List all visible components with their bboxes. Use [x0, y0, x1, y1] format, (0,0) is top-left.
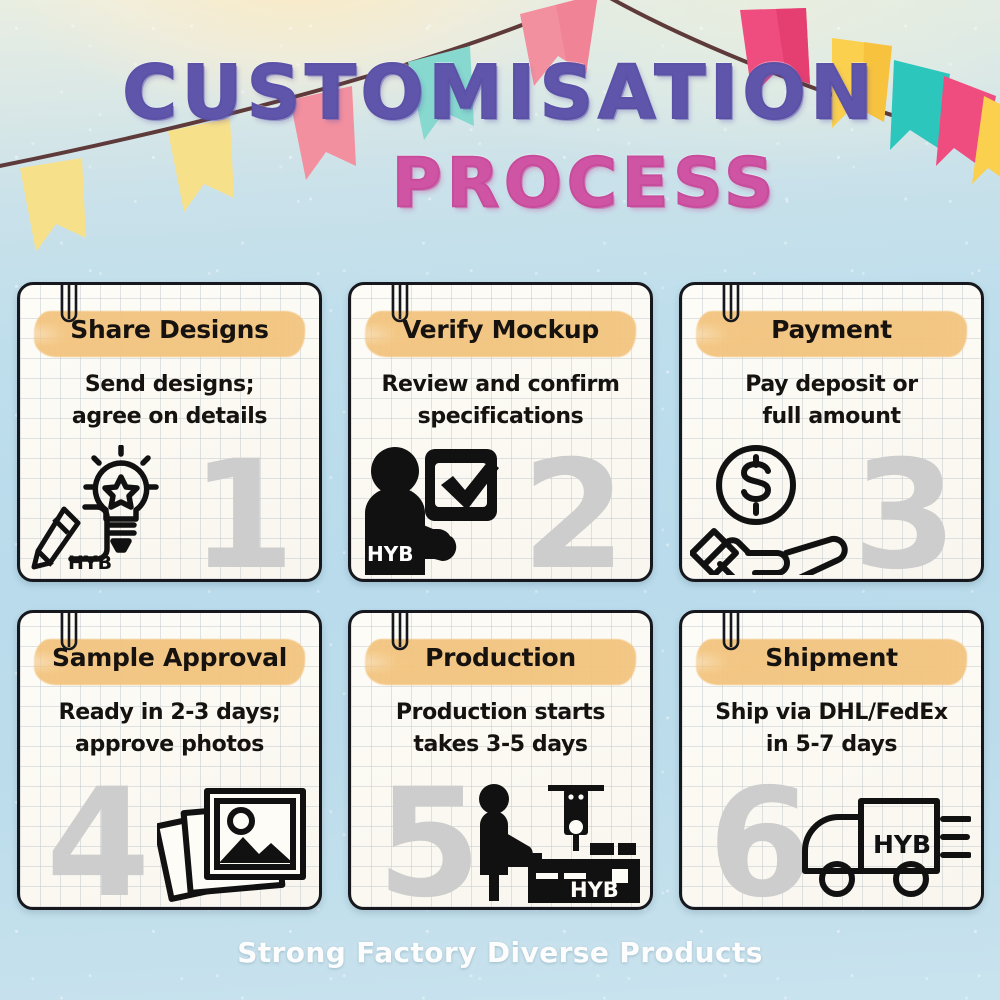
brand-mark: HYB — [367, 542, 413, 566]
step-card-1[interactable]: Share Designs Send designs;agree on deta… — [17, 282, 322, 582]
desc-line-1: Ready in 2-3 days; — [59, 700, 281, 725]
paperclip-icon — [388, 610, 412, 665]
desc-line-2: specifications — [418, 404, 584, 429]
brand-mark: HYB — [68, 552, 112, 574]
step-card-2[interactable]: Verify Mockup Review and confirmspecific… — [348, 282, 653, 582]
paperclip-icon — [719, 610, 743, 665]
title-line2-text: PROCESS — [392, 150, 778, 218]
hand-coin-icon — [690, 443, 850, 575]
step-description: Pay deposit orfull amount — [692, 369, 971, 433]
step-number: 1 — [191, 445, 295, 583]
brand-mark: HYB — [873, 830, 931, 859]
steps-grid: Share Designs Send designs;agree on deta… — [17, 282, 983, 910]
person-checkbox-icon: HYB — [359, 443, 509, 575]
desc-line-1: Pay deposit or — [745, 372, 917, 397]
worker-machine-icon: HYB — [472, 781, 640, 903]
step-card-5[interactable]: Production Production startstakes 3-5 da… — [348, 610, 653, 910]
infographic-poster: CUSTOMISATION PROCESS Share Designs Send… — [0, 0, 1000, 1000]
paperclip-icon — [388, 282, 412, 337]
poster-title-line2: PROCESS — [0, 150, 1000, 218]
step-number: 5 — [377, 773, 481, 911]
desc-line-2: in 5-7 days — [766, 732, 897, 757]
step-description: Production startstakes 3-5 days — [361, 697, 640, 761]
step-description: Send designs;agree on details — [30, 369, 309, 433]
desc-line-2: full amount — [762, 404, 900, 429]
desc-line-1: Send designs; — [85, 372, 254, 397]
delivery-truck-icon: HYB — [795, 787, 971, 903]
title-line1-text: CUSTOMISATION — [123, 56, 878, 130]
photo-stack-icon — [157, 777, 309, 903]
desc-line-1: Production starts — [396, 700, 605, 725]
step-number: 4 — [46, 773, 150, 911]
paperclip-icon — [57, 282, 81, 337]
step-card-4[interactable]: Sample Approval Ready in 2-3 days;approv… — [17, 610, 322, 910]
desc-line-2: takes 3-5 days — [413, 732, 587, 757]
pencil-lightbulb-icon: HYB — [28, 445, 188, 575]
step-card-6[interactable]: Shipment Ship via DHL/FedExin 5-7 days 6… — [679, 610, 984, 910]
step-description: Ready in 2-3 days;approve photos — [30, 697, 309, 761]
paperclip-icon — [57, 610, 81, 665]
step-description: Review and confirmspecifications — [361, 369, 640, 433]
desc-line-1: Review and confirm — [381, 372, 619, 397]
paperclip-icon — [719, 282, 743, 337]
brand-mark: HYB — [570, 878, 619, 902]
footer-tagline: Strong Factory Diverse Products — [0, 936, 1000, 969]
step-card-3[interactable]: Payment Pay deposit orfull amount 3 — [679, 282, 984, 582]
desc-line-1: Ship via DHL/FedEx — [715, 700, 947, 725]
poster-title-line1: CUSTOMISATION — [0, 56, 1000, 130]
step-number: 2 — [522, 445, 626, 583]
desc-line-2: agree on details — [72, 404, 267, 429]
desc-line-2: approve photos — [75, 732, 264, 757]
step-number: 3 — [853, 445, 957, 583]
step-description: Ship via DHL/FedExin 5-7 days — [692, 697, 971, 761]
